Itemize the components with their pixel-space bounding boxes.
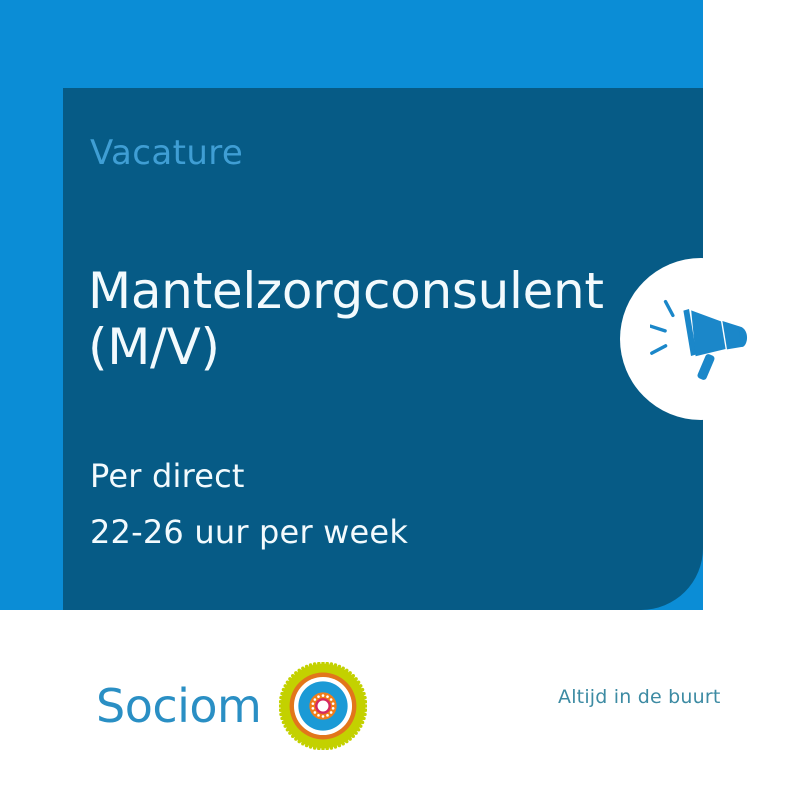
start-date-text: Per direct [90, 448, 610, 504]
brand-name: Sociom [96, 681, 261, 731]
headline-line-2: (M/V) [88, 319, 648, 375]
vacancy-details: Per direct 22-26 uur per week [90, 448, 610, 560]
hours-text: 22-26 uur per week [90, 504, 610, 560]
footer: Sociom Altijd in de buurt [0, 610, 800, 800]
page-title: Mantelzorgconsulent (M/V) [88, 263, 648, 375]
sociom-target-logo-icon [279, 662, 367, 750]
brand-tagline: Altijd in de buurt [558, 684, 721, 710]
vacancy-poster: Vacature Mantelzorgconsulent (M/V) Per d… [0, 0, 800, 800]
megaphone-icon [650, 288, 752, 390]
brand-lockup: Sociom [96, 662, 367, 750]
headline-line-1: Mantelzorgconsulent [88, 262, 604, 320]
eyebrow-label: Vacature [90, 131, 243, 175]
